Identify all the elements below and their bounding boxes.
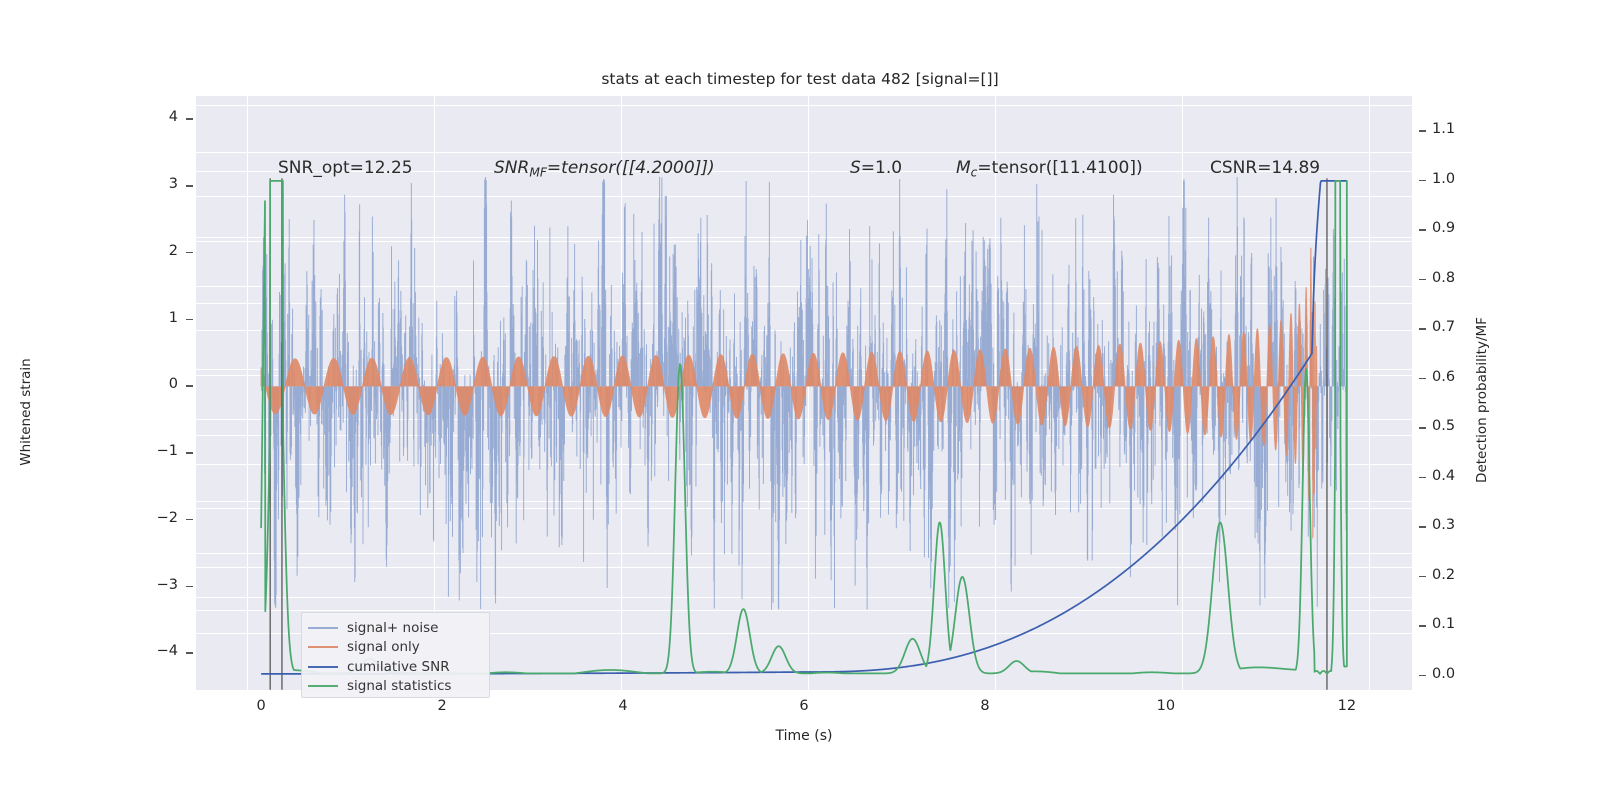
annotation-chirp-mass: Mc=tensor([11.4100]) <box>956 158 1143 179</box>
y-tick-mark-right <box>1419 427 1426 429</box>
y-tick-label-right: 0.6 <box>1432 369 1492 385</box>
annotation-mc-suffix: =tensor([11.4100]) <box>977 158 1142 178</box>
y-tick-label-right: 0.4 <box>1432 468 1492 484</box>
legend-swatch-signal-only <box>308 646 338 648</box>
legend-item[interactable]: signal only <box>308 638 481 658</box>
legend-label: signal only <box>347 639 420 655</box>
page-title: stats at each timestep for test data 482… <box>0 70 1600 88</box>
legend-item[interactable]: signal statistics <box>308 677 481 697</box>
y-tick-mark-right <box>1419 180 1426 182</box>
y-axis-label-left: Whitened strain <box>18 232 34 592</box>
y-tick-mark-right <box>1419 576 1426 578</box>
legend-swatch-signal-statistics <box>308 685 338 687</box>
annotation-row: SNR_opt=12.25 SNRMF=tensor([[4.2000]]) S… <box>196 158 1412 186</box>
annotation-mc-prefix: M <box>956 158 971 178</box>
annotation-csnr-text: CSNR=14.89 <box>1210 158 1320 178</box>
x-axis-label: Time (s) <box>196 728 1412 744</box>
y-tick-mark-left <box>186 319 193 321</box>
x-tick-label: 8 <box>965 698 1005 714</box>
y-tick-label-right: 1.1 <box>1432 121 1492 137</box>
legend-swatch-signal-plus-noise <box>308 627 338 629</box>
y-tick-label-right: 0.5 <box>1432 418 1492 434</box>
y-tick-label-left: 2 <box>126 243 178 259</box>
annotation-snr-mf-suffix: =tensor([[4.2000]]) <box>547 158 715 178</box>
x-tick-label: 10 <box>1146 698 1186 714</box>
y-tick-label-right: 0.8 <box>1432 270 1492 286</box>
y-tick-label-right: 1.0 <box>1432 171 1492 187</box>
y-tick-mark-right <box>1419 378 1426 380</box>
y-tick-mark-left <box>186 385 193 387</box>
y-tick-mark-left <box>186 519 193 521</box>
y-tick-mark-left <box>186 652 193 654</box>
annotation-snr-mf-prefix: SNR <box>494 158 529 178</box>
legend-swatch-cumulative-snr <box>308 666 338 668</box>
legend-item[interactable]: cumilative SNR <box>308 657 481 677</box>
y-tick-label-right: 0.0 <box>1432 666 1492 682</box>
y-tick-label-left: 3 <box>126 176 178 192</box>
y-tick-label-left: 4 <box>126 109 178 125</box>
annotation-s-prefix: S <box>850 158 861 178</box>
y-tick-label-left: −1 <box>126 443 178 459</box>
y-tick-mark-left <box>186 252 193 254</box>
annotation-s-suffix: =1.0 <box>861 158 902 178</box>
legend[interactable]: signal+ noise signal only cumilative SNR… <box>301 612 490 698</box>
y-tick-mark-right <box>1419 328 1426 330</box>
y-tick-label-left: −3 <box>126 577 178 593</box>
y-tick-label-right: 0.3 <box>1432 517 1492 533</box>
figure-canvas: stats at each timestep for test data 482… <box>0 0 1600 800</box>
legend-item[interactable]: signal+ noise <box>308 618 481 638</box>
annotation-snr-opt: SNR_opt=12.25 <box>278 158 413 178</box>
y-tick-mark-left <box>186 185 193 187</box>
legend-label: signal+ noise <box>347 620 438 636</box>
legend-label: cumilative SNR <box>347 659 450 675</box>
y-tick-mark-left <box>186 118 193 120</box>
y-tick-label-right: 0.7 <box>1432 319 1492 335</box>
y-tick-label-right: 0.2 <box>1432 567 1492 583</box>
annotation-s-value: S=1.0 <box>850 158 902 178</box>
y-tick-mark-right <box>1419 279 1426 281</box>
x-tick-label: 6 <box>784 698 824 714</box>
y-tick-label-left: −4 <box>126 643 178 659</box>
y-tick-mark-right <box>1419 130 1426 132</box>
y-tick-label-right: 0.9 <box>1432 220 1492 236</box>
legend-label: signal statistics <box>347 678 451 694</box>
y-tick-mark-right <box>1419 229 1426 231</box>
y-tick-label-left: 1 <box>126 310 178 326</box>
annotation-snr-opt-text: SNR_opt=12.25 <box>278 158 413 178</box>
y-tick-label-left: 0 <box>126 376 178 392</box>
y-tick-label-right: 0.1 <box>1432 616 1492 632</box>
x-tick-label: 2 <box>422 698 462 714</box>
y-tick-mark-right <box>1419 625 1426 627</box>
annotation-snr-mf: SNRMF=tensor([[4.2000]]) <box>494 158 715 179</box>
y-tick-mark-right <box>1419 477 1426 479</box>
x-tick-label: 0 <box>241 698 281 714</box>
x-tick-label: 12 <box>1327 698 1367 714</box>
y-tick-mark-right <box>1419 675 1426 677</box>
y-tick-mark-right <box>1419 526 1426 528</box>
y-tick-label-left: −2 <box>126 510 178 526</box>
x-tick-label: 4 <box>603 698 643 714</box>
annotation-csnr: CSNR=14.89 <box>1210 158 1320 178</box>
y-tick-mark-left <box>186 452 193 454</box>
annotation-snr-mf-subscript: MF <box>529 165 547 179</box>
y-tick-mark-left <box>186 586 193 588</box>
